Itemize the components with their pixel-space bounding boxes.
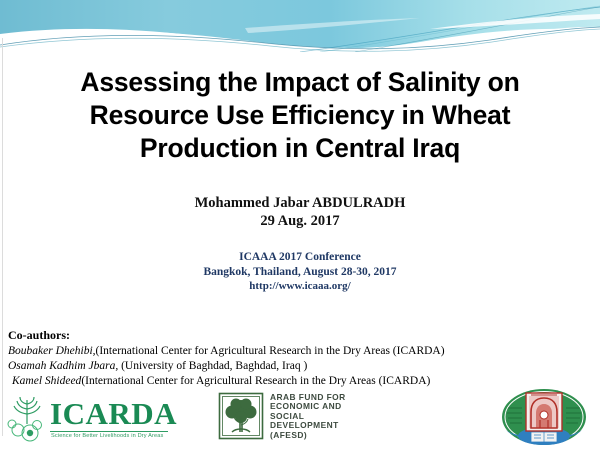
coauthor-affiliation: (International Center for Agricultural R… <box>81 375 430 387</box>
presentation-date: 29 Aug. 2017 <box>30 212 570 230</box>
coauthor-row: Osamah Kadhim Jbara, (University of Bagh… <box>8 359 528 374</box>
logo-strip: ICARDA Science for Better Livelihoods in… <box>0 388 600 450</box>
afesd-wordmark: ARAB FUND FOR ECONOMIC AND SOCIAL DEVELO… <box>270 393 346 440</box>
coauthor-row: Boubaker Dhehibi,(International Center f… <box>8 344 528 359</box>
coauthor-name: Osamah Kadhim Jbara, <box>8 360 118 372</box>
presenter-block: Mohammed Jabar ABDULRADH 29 Aug. 2017 <box>30 194 570 230</box>
wave-graphic <box>0 0 600 52</box>
icarda-logo: ICARDA Science for Better Livelihoods in… <box>6 390 171 448</box>
icarda-tagline: Science for Better Livelihoods in Dry Ar… <box>51 433 163 439</box>
coauthors-heading: Co-authors: <box>8 328 528 343</box>
conference-url[interactable]: http://www.icaaa.org/ <box>30 279 570 294</box>
presentation-slide: Assessing the Impact of Salinity on Reso… <box>0 0 600 450</box>
university-crest-icon <box>498 386 590 448</box>
coauthor-affiliation: (University of Baghdad, Baghdad, Iraq ) <box>118 360 307 372</box>
conference-location: Bangkok, Thailand, August 28-30, 2017 <box>30 265 570 280</box>
coauthor-name: Boubaker Dhehibi, <box>8 345 96 357</box>
conference-name: ICAAA 2017 Conference <box>30 250 570 265</box>
header-wave-decoration <box>0 0 600 52</box>
afesd-logo: ARAB FUND FOR ECONOMIC AND SOCIAL DEVELO… <box>218 392 378 446</box>
university-of-baghdad-logo <box>498 386 590 448</box>
coauthor-row: Kamel Shideed(International Center for A… <box>8 374 528 389</box>
conference-block: ICAAA 2017 Conference Bangkok, Thailand,… <box>30 250 570 294</box>
icarda-seed-dot <box>27 430 33 436</box>
coauthors-block: Co-authors: Boubaker Dhehibi,(Internatio… <box>8 328 528 389</box>
icarda-plant-icon <box>6 394 48 444</box>
icarda-rule <box>50 431 168 432</box>
page-title: Assessing the Impact of Salinity on Reso… <box>30 66 570 165</box>
coauthor-affiliation: (International Center for Agricultural R… <box>96 345 445 357</box>
left-edge-rule <box>2 38 3 436</box>
afesd-tree-icon <box>218 392 264 440</box>
coauthor-name: Kamel Shideed <box>12 375 81 387</box>
icarda-wordmark: ICARDA <box>50 396 177 432</box>
presenter-name: Mohammed Jabar ABDULRADH <box>30 194 570 212</box>
